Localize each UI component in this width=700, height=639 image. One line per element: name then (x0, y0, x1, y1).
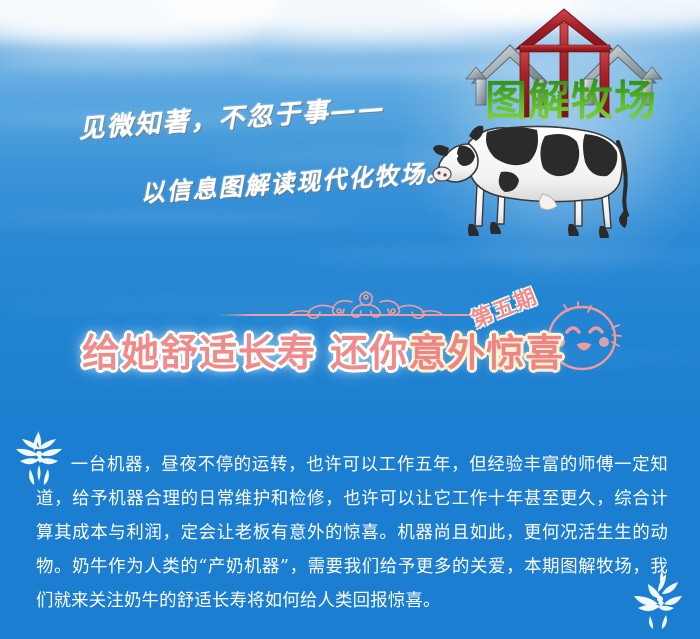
infographic-header-page: 见微知著，不忽于事—— 以信息图解读现代化牧场。 (0, 0, 700, 639)
page-title: 给她舒适长寿 还你意外惊喜 (82, 322, 564, 377)
page-title-accent: 意外惊喜 (408, 331, 564, 375)
brand-logo-text: 图解牧场 (485, 67, 657, 128)
page-title-primary: 给她舒适长寿 还你 (82, 331, 408, 375)
intro-paragraph: 一台机器，昼夜不停的运转，也许可以工作五年，但经验丰富的师傅一定知道，给予机器合… (36, 448, 668, 618)
intro-text-panel: 一台机器，昼夜不停的运转，也许可以工作五年，但经验丰富的师傅一定知道，给予机器合… (0, 420, 700, 639)
cloud-shape (0, 212, 360, 224)
floral-ornament-icon (622, 568, 688, 635)
cloud-shape (0, 52, 260, 70)
brand-logo[interactable]: 图解牧场 (420, 5, 700, 255)
